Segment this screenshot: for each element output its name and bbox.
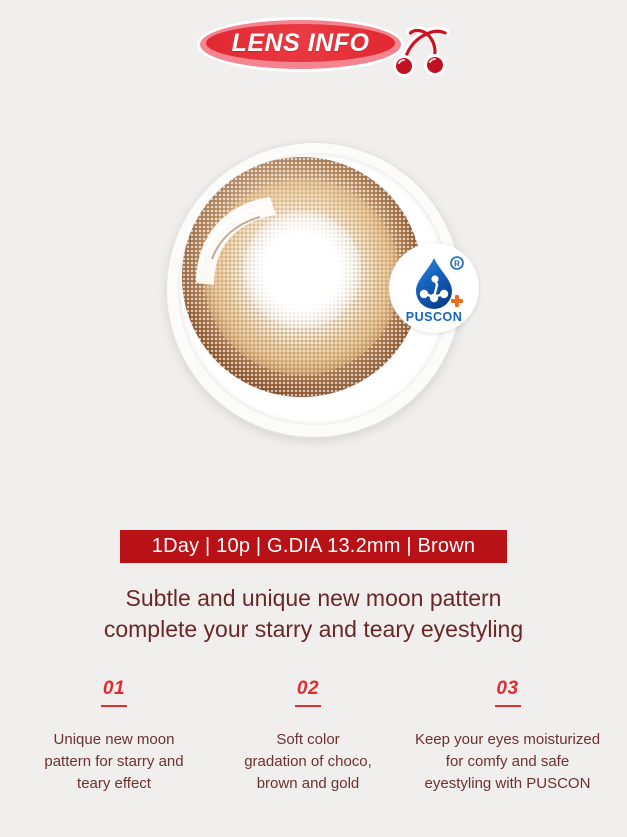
- feature-underline: [295, 705, 321, 707]
- puscon-badge: R PUSCON: [389, 243, 479, 333]
- tagline: Subtle and unique new moon pattern compl…: [0, 583, 627, 645]
- lens-highlight-arc: [190, 187, 310, 307]
- feature-number: 02: [234, 678, 382, 700]
- feature-number: 01: [6, 678, 222, 700]
- feature-description: Unique new moon pattern for starry and t…: [6, 729, 222, 795]
- feature-desc-line: Keep your eyes moisturized: [394, 729, 621, 751]
- feature-underline: [101, 705, 127, 707]
- lens-iris: [182, 157, 422, 397]
- feature-desc-line: eyestyling with PUSCON: [394, 773, 621, 795]
- feature-list: 01 Unique new moon pattern for starry an…: [0, 678, 627, 795]
- feature-description: Keep your eyes moisturized for comfy and…: [394, 729, 621, 795]
- lens-info-badge: LENS INFO: [197, 17, 404, 72]
- feature-desc-line: Soft color: [234, 729, 382, 751]
- puscon-wordmark: PUSCON: [406, 310, 462, 324]
- header: LENS INFO: [0, 0, 627, 100]
- feature-item-01: 01 Unique new moon pattern for starry an…: [0, 678, 228, 795]
- feature-desc-line: teary effect: [6, 773, 222, 795]
- feature-desc-line: brown and gold: [234, 773, 382, 795]
- feature-underline: [495, 705, 521, 707]
- feature-item-03: 03 Keep your eyes moisturized for comfy …: [388, 678, 627, 795]
- plus-icon: [451, 295, 463, 307]
- product-image: R PUSCON: [0, 100, 627, 500]
- cherry-icon: [385, 23, 455, 81]
- tagline-line-2: complete your starry and teary eyestylin…: [0, 614, 627, 645]
- feature-item-02: 02 Soft color gradation of choco, brown …: [228, 678, 388, 795]
- feature-desc-line: Unique new moon: [6, 729, 222, 751]
- feature-desc-line: gradation of choco,: [234, 751, 382, 773]
- feature-desc-line: pattern for starry and: [6, 751, 222, 773]
- spec-banner: 1Day | 10p | G.DIA 13.2mm | Brown: [120, 530, 507, 563]
- feature-description: Soft color gradation of choco, brown and…: [234, 729, 382, 795]
- registered-trademark-icon: R: [451, 257, 463, 269]
- puscon-logo: R PUSCON: [395, 249, 473, 327]
- feature-desc-line: for comfy and safe: [394, 751, 621, 773]
- feature-number: 03: [394, 678, 621, 700]
- badge-label: LENS INFO: [206, 24, 395, 62]
- svg-text:R: R: [454, 260, 460, 269]
- tagline-line-1: Subtle and unique new moon pattern: [0, 583, 627, 614]
